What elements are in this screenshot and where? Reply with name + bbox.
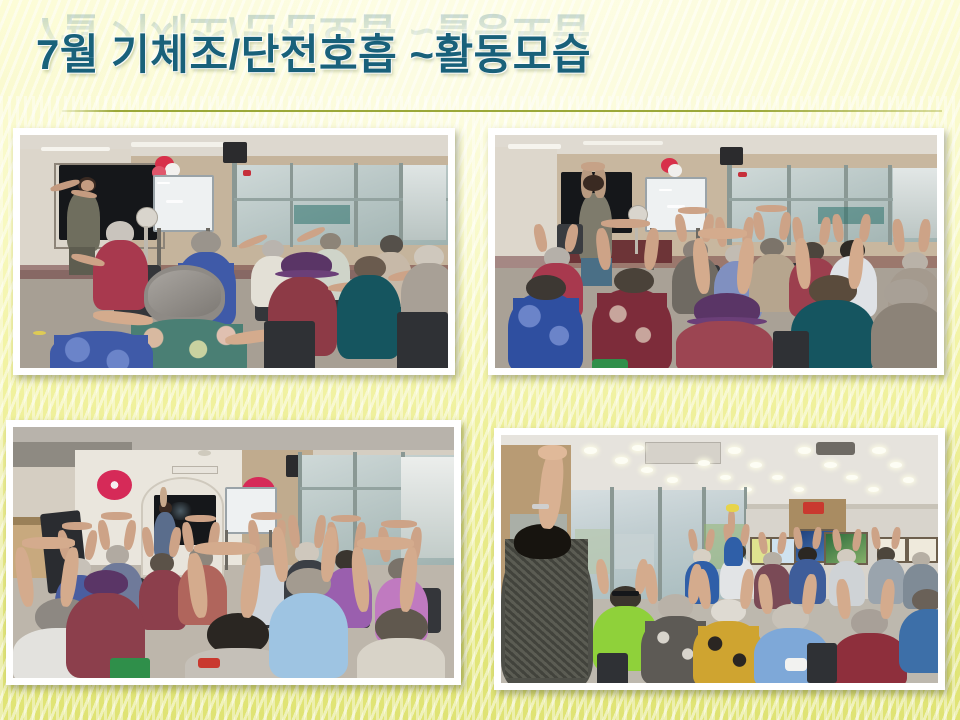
slide-title-block: 7월 기체조/단전호흡 ~활동모습 7월 기체조/단전호흡 ~활동모습: [0, 0, 960, 112]
photo-bottom-right: [501, 435, 938, 683]
title-divider: [62, 110, 942, 112]
photo-frame-bottom-left[interactable]: [6, 420, 461, 685]
presentation-slide: 7월 기체조/단전호흡 ~활동모습 7월 기체조/단전호흡 ~활동모습: [0, 0, 960, 720]
photo-frame-bottom-right[interactable]: [494, 428, 945, 690]
photo-top-right: [495, 135, 937, 368]
photo-frame-top-left[interactable]: [13, 128, 455, 375]
photo-frame-top-right[interactable]: [488, 128, 944, 375]
photo-bottom-left: [13, 427, 454, 678]
slide-title: 7월 기체조/단전호흡 ~활동모습: [36, 21, 591, 82]
photo-top-left: [20, 135, 448, 368]
